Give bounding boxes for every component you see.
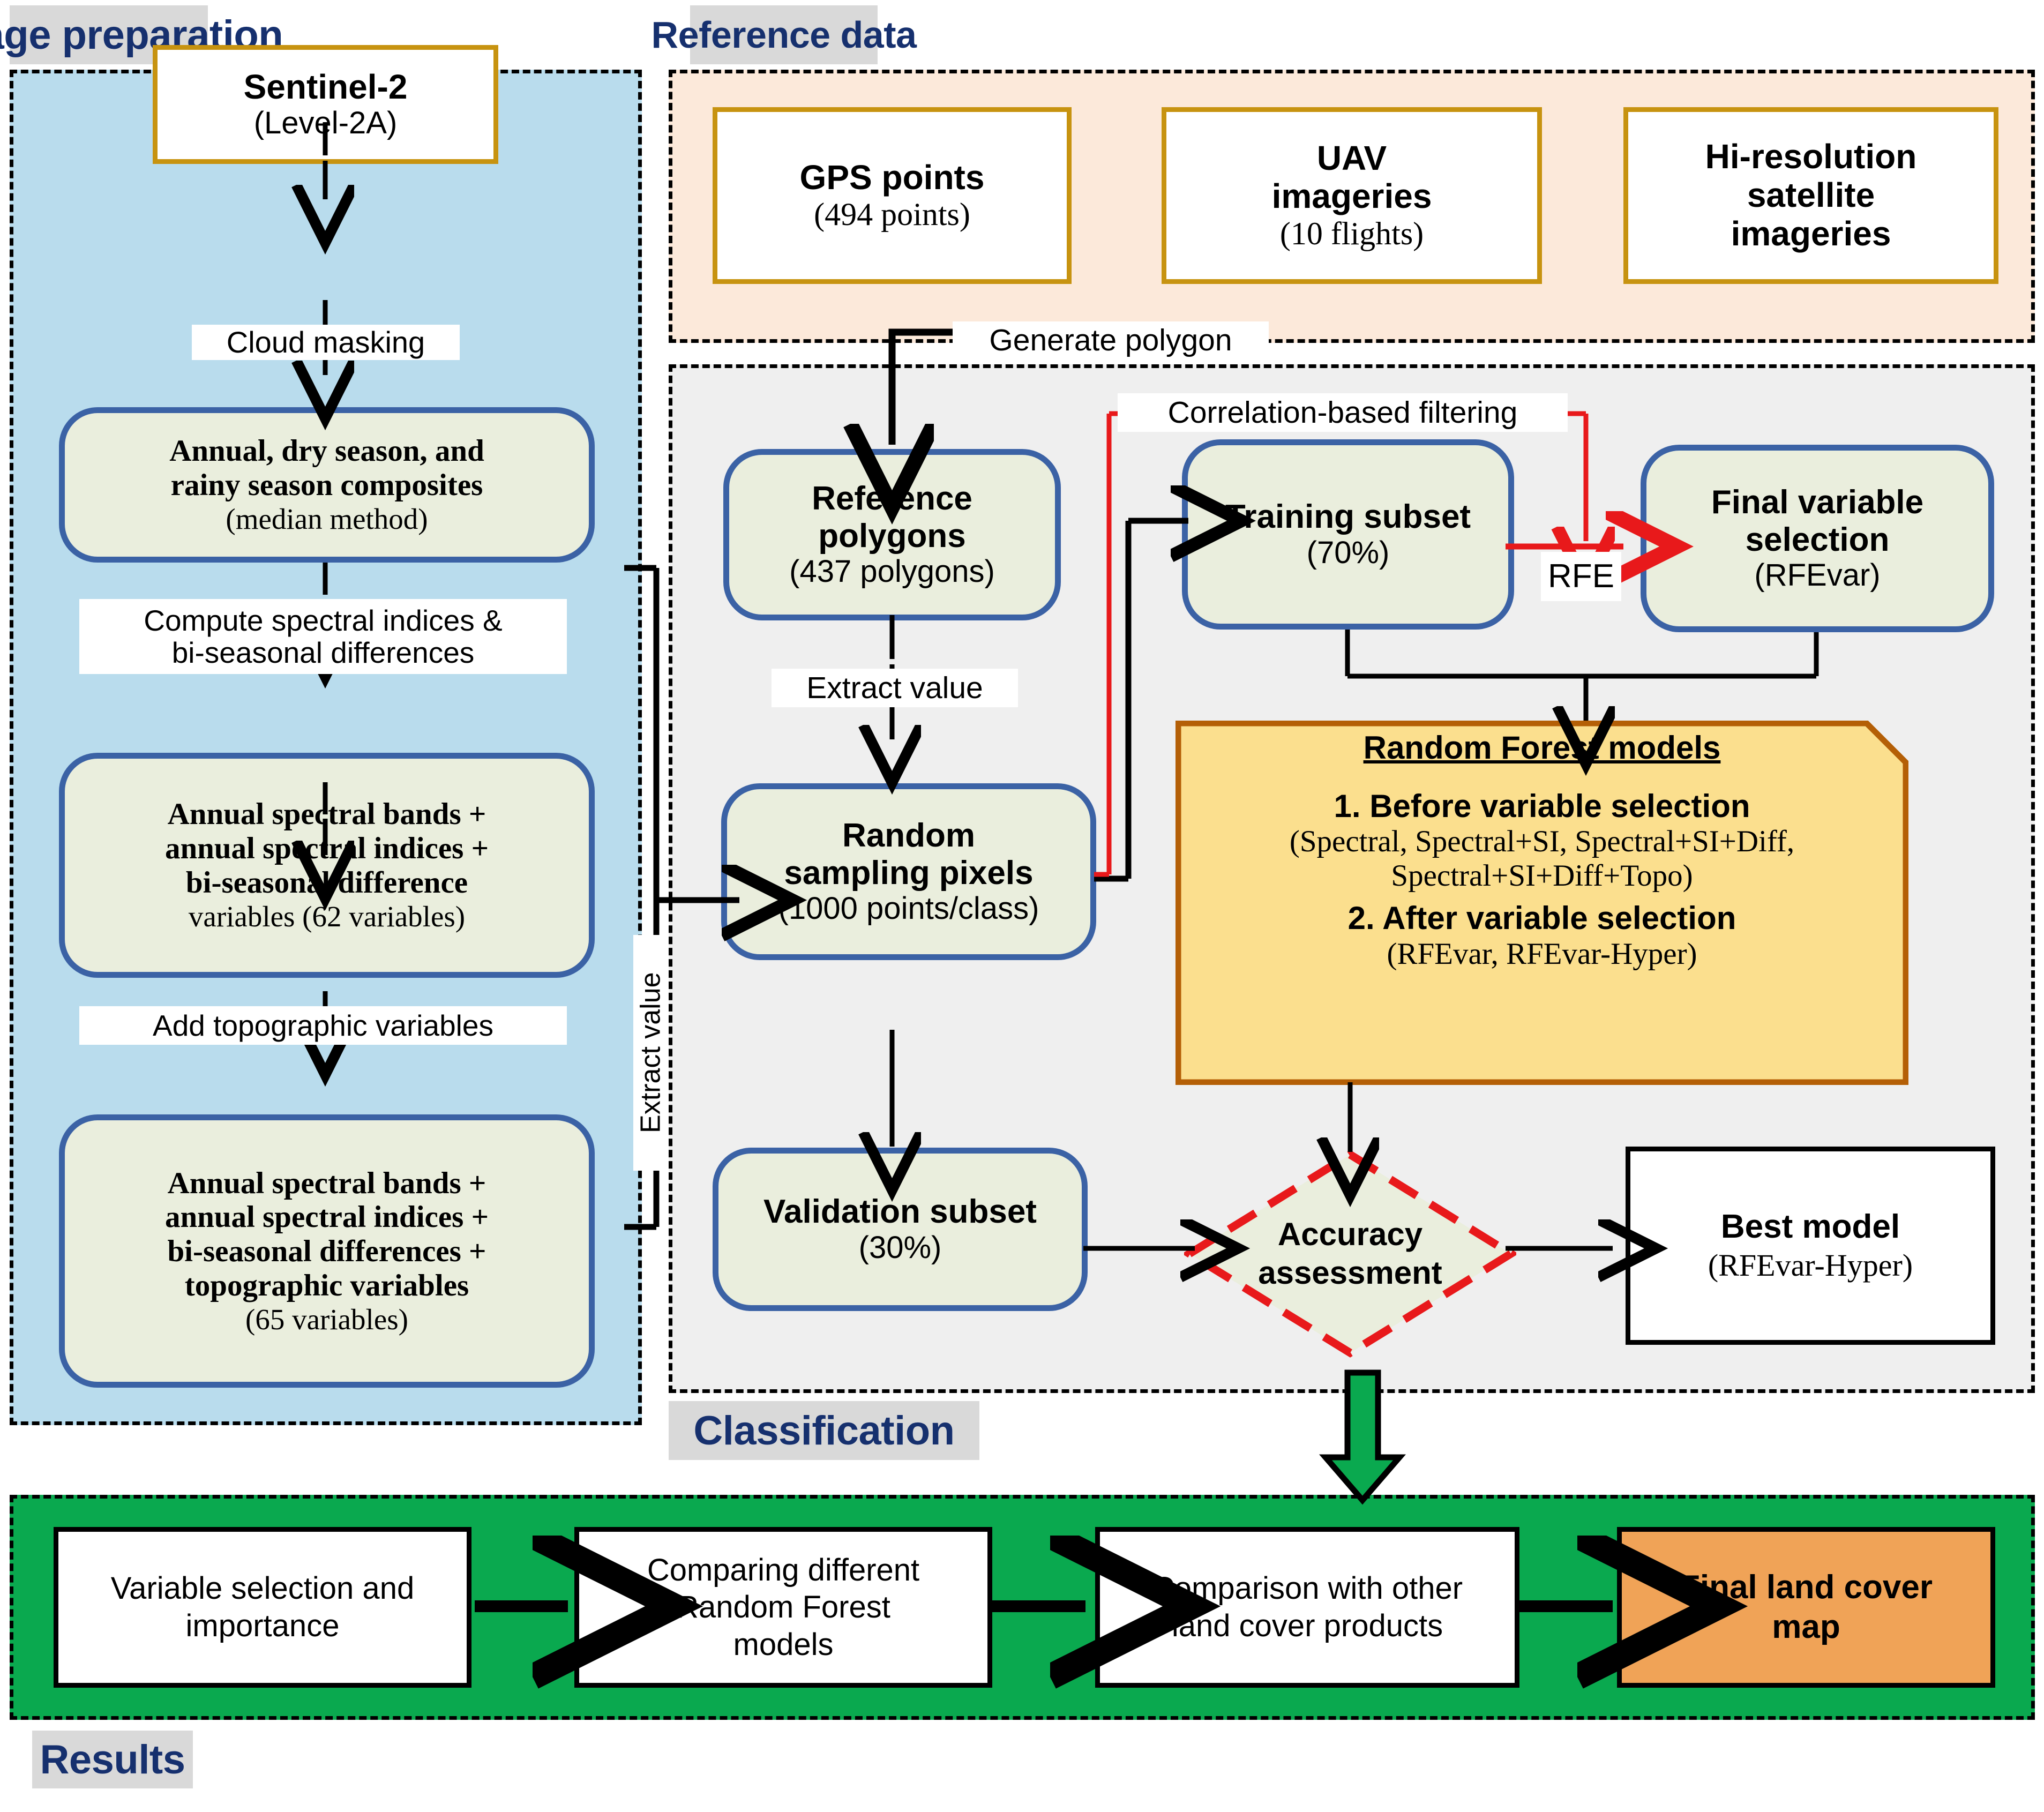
edge-label-correlation-filtering: Correlation-based filtering (1118, 393, 1568, 432)
node-hires-satellite-title: Hi-resolution satellite imageries (1705, 138, 1917, 253)
node-sentinel2-sub: (Level-2A) (254, 106, 398, 141)
node-reference-polygons-title: Reference polygons (812, 480, 972, 555)
edge-label-add-topographic-text: Add topographic variables (153, 1009, 493, 1042)
rf-item2-bold: 2. After variable selection (1348, 900, 1736, 937)
rf-item1-bold: 1. Before variable selection (1334, 788, 1750, 825)
result-step-comparison-products[interactable]: Comparison with other land cover product… (1095, 1527, 1519, 1688)
edge-label-compute-indices-text: Compute spectral indices & bi-seasonal d… (144, 604, 502, 669)
node-validation-subset-sub: (30%) (859, 1231, 942, 1266)
node-random-sampling-sub: (1000 points/class) (778, 892, 1039, 926)
node-vars-65-sub: (65 variables) (245, 1303, 408, 1336)
edge-label-generate-polygon: Generate polygon (953, 321, 1269, 359)
node-final-variable-selection-title: Final variable selection (1711, 484, 1923, 558)
flowchart-canvas: Image preparation Reference data Classif… (0, 0, 2044, 1812)
node-composites-sub: (median method) (226, 503, 428, 536)
node-best-model-sub: (RFEvar-Hyper) (1708, 1247, 1913, 1284)
edge-label-cloud-masking-text: Cloud masking (227, 326, 425, 359)
node-vars-62-sub: variables (62 variables) (189, 900, 465, 933)
node-vars-65[interactable]: Annual spectral bands + annual spectral … (59, 1114, 595, 1388)
section-title-reference-data: Reference data (690, 5, 878, 64)
edge-label-extract-value: Extract value (772, 669, 1018, 707)
node-vars-62-title: Annual spectral bands + annual spectral … (165, 797, 489, 900)
node-hires-satellite[interactable]: Hi-resolution satellite imageries (1623, 107, 1998, 284)
node-gps-points-title: GPS points (800, 159, 985, 197)
node-gps-points-sub: (494 points) (814, 197, 970, 233)
node-best-model-title: Best model (1721, 1207, 1900, 1247)
node-accuracy-assessment[interactable]: Accuracy assessment (1184, 1149, 1516, 1358)
node-accuracy-assessment-label: Accuracy assessment (1184, 1149, 1516, 1358)
node-composites-title: Annual, dry season, and rainy season com… (169, 434, 484, 503)
node-training-subset-title: Training subset (1225, 498, 1471, 535)
node-best-model[interactable]: Best model (RFEvar-Hyper) (1626, 1147, 1995, 1345)
node-sentinel2-title: Sentinel-2 (244, 68, 408, 107)
node-final-variable-selection[interactable]: Final variable selection (RFEvar) (1641, 445, 1994, 632)
node-training-subset-sub: (70%) (1307, 536, 1390, 571)
edge-label-correlation-filtering-text: Correlation-based filtering (1168, 396, 1518, 430)
edge-label-add-topographic: Add topographic variables (79, 1006, 567, 1045)
edge-label-extract-value-left: Extract value (633, 935, 669, 1171)
edge-label-rfe: RFE (1541, 552, 1621, 601)
node-composites[interactable]: Annual, dry season, and rainy season com… (59, 407, 595, 563)
node-reference-polygons-sub: (437 polygons) (789, 555, 995, 589)
node-training-subset[interactable]: Training subset (70%) (1182, 439, 1514, 630)
node-uav-imageries[interactable]: UAV imageries (10 flights) (1162, 107, 1542, 284)
rf-item2-sub: (RFEvar, RFEvar-Hyper) (1387, 937, 1697, 971)
node-final-variable-selection-sub: (RFEvar) (1754, 558, 1880, 593)
edge-label-rfe-text: RFE (1548, 558, 1614, 595)
node-random-forest-models[interactable]: Random Forest models 1. Before variable … (1176, 721, 1908, 1085)
node-reference-polygons[interactable]: Reference polygons (437 polygons) (723, 449, 1061, 620)
section-title-reference-data-label: Reference data (652, 13, 917, 56)
edge-label-compute-indices: Compute spectral indices & bi-seasonal d… (79, 599, 567, 674)
edge-label-generate-polygon-text: Generate polygon (989, 324, 1232, 357)
section-title-classification: Classification (669, 1401, 979, 1460)
node-random-sampling-title: Random sampling pixels (784, 817, 1033, 892)
rf-header: Random Forest models (1364, 729, 1721, 766)
section-title-classification-label: Classification (693, 1407, 954, 1454)
result-step-final-map[interactable]: Final land cover map (1617, 1527, 1995, 1688)
node-uav-imageries-sub: (10 flights) (1280, 216, 1424, 252)
node-random-sampling-pixels[interactable]: Random sampling pixels (1000 points/clas… (721, 783, 1096, 960)
node-vars-62[interactable]: Annual spectral bands + annual spectral … (59, 753, 595, 978)
node-validation-subset-title: Validation subset (763, 1193, 1037, 1230)
edge-label-cloud-masking: Cloud masking (192, 325, 460, 360)
node-uav-imageries-title: UAV imageries (1272, 139, 1432, 216)
node-gps-points[interactable]: GPS points (494 points) (713, 107, 1072, 284)
node-sentinel2[interactable]: Sentinel-2 (Level-2A) (153, 45, 498, 164)
edge-label-extract-value-text: Extract value (806, 671, 983, 705)
section-title-results-label: Results (40, 1736, 185, 1783)
node-vars-65-title: Annual spectral bands + annual spectral … (165, 1166, 489, 1303)
node-validation-subset[interactable]: Validation subset (30%) (713, 1148, 1088, 1311)
edge-label-extract-value-left-text: Extract value (635, 972, 666, 1134)
result-step-variable-selection[interactable]: Variable selection and importance (54, 1527, 471, 1688)
result-step-comparing-models[interactable]: Comparing different Random Forest models (574, 1527, 992, 1688)
section-title-results: Results (32, 1731, 193, 1788)
rf-item1-sub: (Spectral, Spectral+SI, Spectral+SI+Diff… (1290, 825, 1794, 893)
